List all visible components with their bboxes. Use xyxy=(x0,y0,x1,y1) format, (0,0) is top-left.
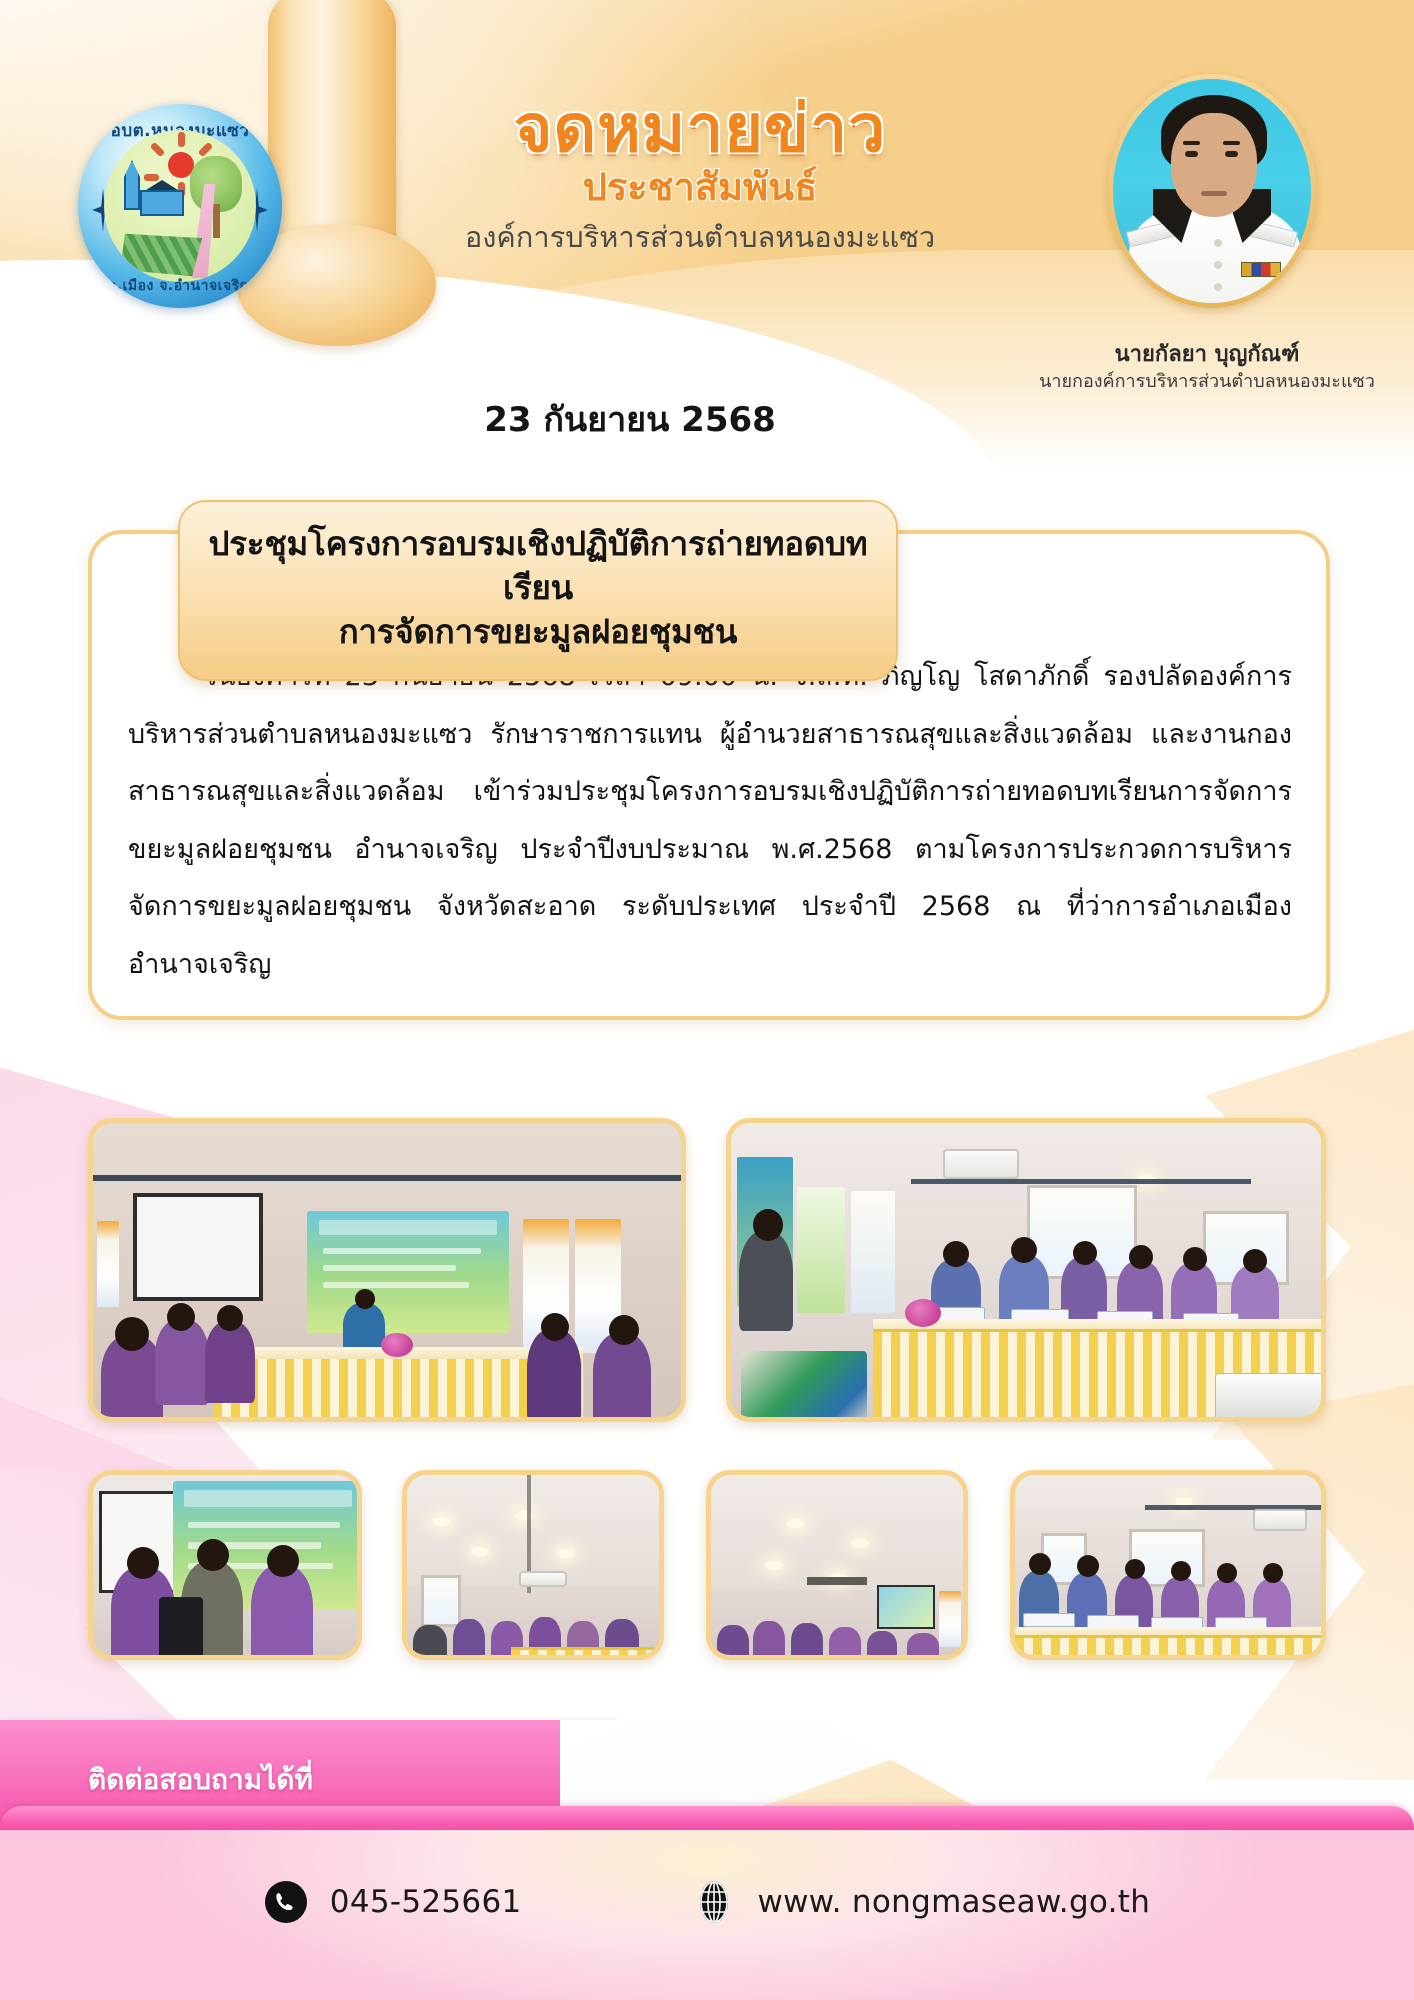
contact-row: 045-525661 www. nongmaseaw.go.th xyxy=(0,1880,1414,1924)
donation-bags xyxy=(741,1351,867,1422)
article-title-line2: การจัดการขยะมูลฝอยชุมชน xyxy=(208,610,868,654)
page-title: จดหมายข่าว xyxy=(380,96,1020,162)
organization-logo: อบต.หนองมะแซว อ.เมือง จ.อำนาจเจริญ xyxy=(78,104,282,308)
rollup-standee xyxy=(797,1187,845,1313)
attendee xyxy=(739,1231,793,1331)
person-head xyxy=(1171,1561,1191,1581)
person-head xyxy=(609,1315,639,1345)
person-head xyxy=(1125,1559,1145,1579)
farm-field-icon xyxy=(120,232,202,276)
air-conditioner xyxy=(943,1149,1019,1179)
presentation-screen xyxy=(877,1585,935,1629)
ceiling-light xyxy=(765,1561,783,1570)
emblem-scene xyxy=(104,130,256,282)
flower-vase xyxy=(905,1299,941,1327)
attendee xyxy=(205,1321,255,1403)
photo-head-table-officials[interactable] xyxy=(1010,1470,1326,1660)
article-body: วันอังคารที่ 23 กันยายน 2568 เวลา 09.00 … xyxy=(128,648,1292,993)
ceiling-light xyxy=(851,1539,869,1548)
person-head xyxy=(1183,1247,1207,1271)
official-role: นายกองค์การบริหารส่วนตำบลหนองมะแซว xyxy=(1000,366,1414,395)
photo-audience-hall-left[interactable] xyxy=(402,1470,664,1660)
person-head xyxy=(267,1545,299,1577)
portrait-photo xyxy=(1113,79,1311,303)
rollup-standee xyxy=(851,1191,895,1313)
banner-line xyxy=(188,1522,340,1528)
event-banner xyxy=(307,1211,509,1333)
phone-contact[interactable]: 045-525661 xyxy=(264,1880,522,1924)
award-item xyxy=(159,1597,203,1659)
website-contact[interactable]: www. nongmaseaw.go.th xyxy=(692,1880,1151,1924)
attendee xyxy=(593,1333,651,1422)
attendee xyxy=(829,1627,861,1660)
meeting-table xyxy=(1015,1635,1326,1660)
photo-conference-table-wide[interactable] xyxy=(726,1118,1326,1422)
banner-heading xyxy=(184,1490,351,1507)
flower-vase xyxy=(381,1333,413,1357)
photo-award-presentation[interactable] xyxy=(88,1470,362,1660)
medal-ribbon-icon xyxy=(1241,262,1281,277)
attendee xyxy=(413,1625,447,1660)
ceiling-light xyxy=(557,1549,575,1558)
meeting-table xyxy=(511,1647,664,1660)
phone-number: 045-525661 xyxy=(330,1884,522,1920)
person-head xyxy=(1243,1249,1267,1273)
article-title-line1: ประชุมโครงการอบรมเชิงปฏิบัติการถ่ายทอดบท… xyxy=(208,522,868,610)
person-head xyxy=(753,1209,783,1241)
mouth-shape xyxy=(1201,191,1227,196)
air-conditioner xyxy=(1253,1509,1307,1531)
attendee xyxy=(155,1319,209,1405)
website-url: www. nongmaseaw.go.th xyxy=(758,1884,1151,1920)
eyebrow-right xyxy=(1223,141,1240,145)
person-head xyxy=(1217,1563,1237,1583)
ceiling-light xyxy=(433,1517,451,1526)
eyebrow-left xyxy=(1183,141,1200,145)
attendee xyxy=(717,1625,749,1660)
award-official xyxy=(251,1565,313,1660)
person-head xyxy=(217,1305,243,1331)
publication-date: 23 กันยายน 2568 xyxy=(380,392,880,446)
globe-icon xyxy=(692,1880,736,1924)
uniform-button xyxy=(1214,283,1222,291)
face-shape xyxy=(1171,113,1257,217)
documents xyxy=(1215,1373,1325,1422)
attendee xyxy=(453,1619,485,1660)
tree-trunk xyxy=(213,204,220,238)
person-head xyxy=(1129,1245,1153,1269)
sun-ray xyxy=(144,174,159,181)
photo-audience-hall-right[interactable] xyxy=(706,1470,968,1660)
contact-label: ติดต่อสอบถามได้ที่ xyxy=(88,1758,313,1802)
house-icon xyxy=(140,190,184,216)
page-subtitle: ประชาสัมพันธ์ xyxy=(380,168,1020,206)
attendee xyxy=(791,1623,823,1660)
banner-line xyxy=(323,1282,468,1288)
door xyxy=(421,1575,461,1627)
uniform-button xyxy=(1214,239,1222,247)
article-title-banner: ประชุมโครงการอบรมเชิงปฏิบัติการถ่ายทอดบท… xyxy=(178,500,898,681)
person-head xyxy=(1011,1237,1037,1263)
official-portrait xyxy=(1108,74,1316,308)
sun-ray xyxy=(150,142,166,158)
banner-line xyxy=(323,1265,456,1271)
attendee xyxy=(753,1621,785,1660)
ceiling-beam xyxy=(807,1577,867,1585)
temple-icon xyxy=(124,160,140,210)
rollup-standee xyxy=(97,1221,119,1307)
person-head xyxy=(943,1241,969,1267)
phone-icon xyxy=(264,1880,308,1924)
eye-left xyxy=(1185,151,1198,157)
banner-heading xyxy=(319,1220,497,1236)
person-head xyxy=(541,1313,569,1341)
ceiling-beam xyxy=(93,1175,681,1181)
person-head xyxy=(355,1289,375,1309)
person-head xyxy=(1073,1241,1097,1265)
sun-ray xyxy=(198,142,214,158)
air-conditioner xyxy=(519,1571,567,1587)
photo-meeting-projector-room[interactable] xyxy=(88,1118,686,1422)
banner-line xyxy=(323,1248,481,1254)
eye-right xyxy=(1225,151,1238,157)
person-head xyxy=(127,1547,159,1579)
attendee xyxy=(867,1631,897,1660)
ceiling-beam xyxy=(911,1179,1251,1184)
person-head xyxy=(1263,1563,1283,1583)
rollup-standee xyxy=(939,1591,961,1647)
person-head xyxy=(115,1317,149,1351)
seal-emblem-icon: อบต.หนองมะแซว อ.เมือง จ.อำนาจเจริญ xyxy=(78,104,282,308)
attendee xyxy=(907,1633,939,1660)
attendee xyxy=(527,1329,581,1421)
sun-ray xyxy=(178,132,185,147)
ceiling-light xyxy=(471,1547,489,1556)
projector-screen xyxy=(133,1193,263,1301)
person-head xyxy=(167,1303,195,1331)
person-head xyxy=(1029,1553,1051,1575)
person-head xyxy=(1077,1555,1099,1577)
ceiling-light xyxy=(787,1519,805,1528)
uniform-button xyxy=(1214,261,1222,269)
person-head xyxy=(197,1539,229,1571)
emblem-bottom-label: อ.เมือง จ.อำนาจเจริญ xyxy=(78,275,282,297)
organization-name: องค์การบริหารส่วนตำบลหนองมะแซว xyxy=(360,222,1040,254)
newsletter-page: อบต.หนองมะแซว อ.เมือง จ.อำนาจเจริญ จดหมา… xyxy=(0,0,1414,2000)
room-ceiling xyxy=(407,1475,659,1587)
name-plate xyxy=(1023,1613,1075,1627)
